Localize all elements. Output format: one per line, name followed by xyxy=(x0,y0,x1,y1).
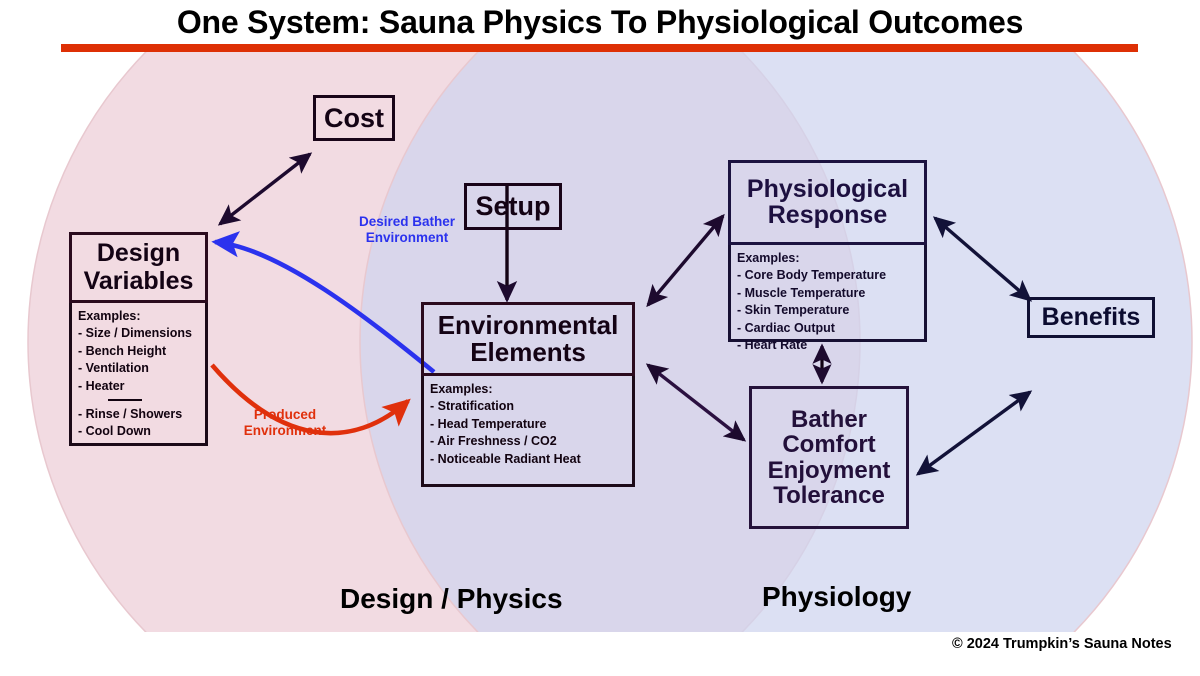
list-item: - Noticeable Radiant Heat xyxy=(430,451,632,467)
physiological-response-title-line2: Response xyxy=(768,203,887,229)
bather-line2: Comfort xyxy=(782,432,875,457)
physiological-response-header[interactable]: Physiological Response xyxy=(728,160,927,245)
desired-line1: Desired Bather xyxy=(307,214,507,230)
design-variables-title-line2: Variables xyxy=(84,269,194,295)
physiological-response-examples: Examples: - Core Body Temperature - Musc… xyxy=(728,245,927,342)
design-variables-header[interactable]: Design Variables xyxy=(69,232,208,303)
list-item: - Skin Temperature xyxy=(737,302,924,318)
list-item: - Core Body Temperature xyxy=(737,267,924,283)
produced-line2: Environment xyxy=(200,423,370,439)
list-item: - Ventilation xyxy=(78,360,205,376)
cost-box[interactable]: Cost xyxy=(313,95,395,141)
list-item: - Muscle Temperature xyxy=(737,285,924,301)
bather-comfort-box[interactable]: Bather Comfort Enjoyment Tolerance xyxy=(749,386,909,529)
list-item: - Bench Height xyxy=(78,343,205,359)
list-divider xyxy=(108,399,142,401)
benefits-label: Benefits xyxy=(1042,304,1141,330)
examples-heading: Examples: xyxy=(78,308,205,324)
examples-heading: Examples: xyxy=(430,381,632,397)
list-item: - Rinse / Showers xyxy=(78,406,205,422)
environmental-elements-examples: Examples: - Stratification - Head Temper… xyxy=(421,376,635,487)
design-variables-title-line1: Design xyxy=(97,241,180,267)
environmental-elements-header[interactable]: Environmental Elements xyxy=(421,302,635,376)
page-title: One System: Sauna Physics To Physiologic… xyxy=(0,4,1200,41)
produced-line1: Produced xyxy=(200,407,370,423)
bather-line3: Enjoyment xyxy=(768,458,891,483)
list-item: - Head Temperature xyxy=(430,416,632,432)
diagram-canvas: One System: Sauna Physics To Physiologic… xyxy=(0,0,1200,676)
examples-heading: Examples: xyxy=(737,250,924,266)
environmental-elements-title-line2: Elements xyxy=(470,339,586,366)
list-item: - Cardiac Output xyxy=(737,320,924,336)
venn-label-physiology: Physiology xyxy=(762,581,911,613)
bather-line1: Bather xyxy=(791,407,867,432)
produced-environment-label: Produced Environment xyxy=(200,407,370,440)
list-item: - Heart Rate xyxy=(737,337,924,353)
benefits-box[interactable]: Benefits xyxy=(1027,297,1155,338)
list-item: - Size / Dimensions xyxy=(78,325,205,341)
list-item: - Stratification xyxy=(430,398,632,414)
list-item: - Air Freshness / CO2 xyxy=(430,433,632,449)
desired-bather-environment-label: Desired Bather Environment xyxy=(307,214,507,247)
physiological-response-title-line1: Physiological xyxy=(747,177,908,203)
desired-line2: Environment xyxy=(307,230,507,246)
list-item: - Cool Down xyxy=(78,423,205,439)
design-variables-examples: Examples: - Size / Dimensions - Bench He… xyxy=(69,303,208,446)
copyright-notice: © 2024 Trumpkin’s Sauna Notes xyxy=(952,636,1172,652)
venn-label-design-physics: Design / Physics xyxy=(340,583,563,615)
title-underline-rule xyxy=(61,44,1138,52)
cost-label: Cost xyxy=(324,104,384,132)
environmental-elements-title-line1: Environmental xyxy=(438,312,619,339)
list-item: - Heater xyxy=(78,378,205,394)
bather-line4: Tolerance xyxy=(773,483,885,508)
